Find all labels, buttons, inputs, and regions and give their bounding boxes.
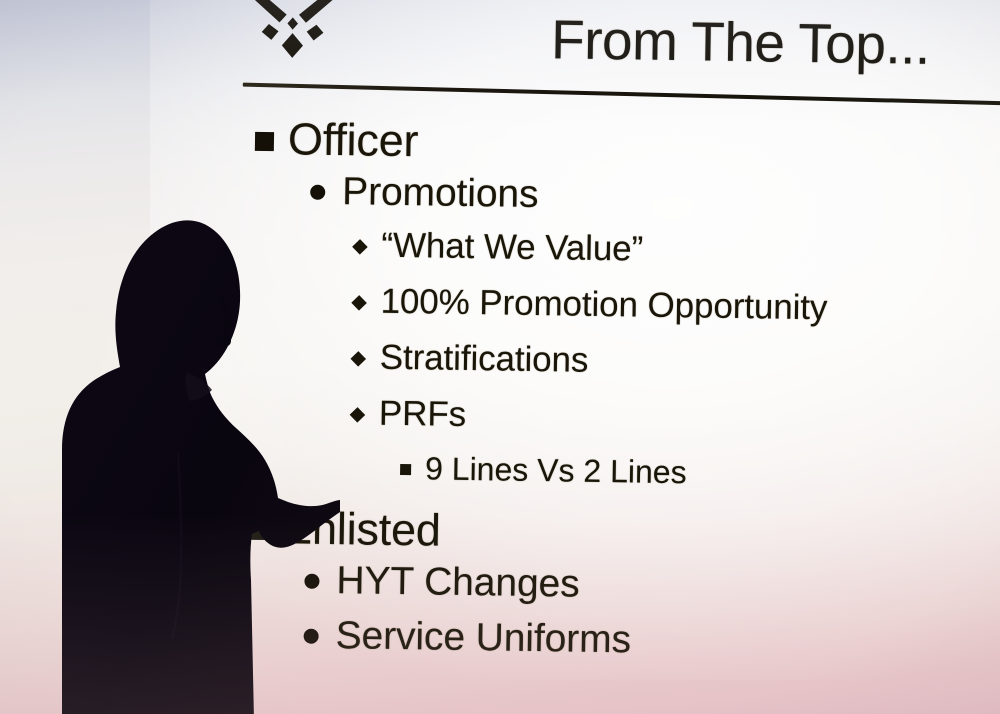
diamond-bullet-icon — [351, 295, 367, 311]
slide-bullet-list: Officer Promotions “What We Value” 100% … — [0, 109, 999, 679]
bullet-label: “What We Value” — [381, 226, 643, 270]
bullet-label: 100% Promotion Opportunity — [380, 282, 827, 329]
slide-title: From The Top... — [470, 6, 1000, 78]
bullet-label: PRFs — [379, 394, 467, 435]
circle-bullet-icon — [304, 629, 319, 644]
bullet-label: Officer — [288, 113, 419, 167]
bullet-item-service-uniforms: Service Uniforms — [303, 614, 992, 679]
diamond-bullet-icon — [352, 239, 368, 255]
circle-bullet-icon — [304, 574, 319, 589]
bullet-label: 9 Lines Vs 2 Lines — [425, 450, 687, 491]
small-square-bullet-icon — [400, 464, 411, 475]
bullet-item-what-we-value: “What We Value” — [354, 225, 998, 291]
bullet-item-promotions: Promotions — [310, 170, 999, 235]
diamond-bullet-icon — [350, 351, 366, 367]
presentation-photo: From The Top... Officer Promotions “What… — [0, 0, 1000, 714]
bullet-label: Stratifications — [379, 338, 588, 381]
bullet-label: Enlisted — [282, 502, 441, 556]
title-divider-rule — [243, 83, 1000, 106]
square-bullet-icon — [249, 521, 268, 540]
bullet-label: HYT Changes — [336, 559, 580, 607]
bullet-item-stratifications: Stratifications — [352, 337, 996, 403]
bullet-item-9-lines-vs-2-lines: 9 Lines Vs 2 Lines — [400, 450, 995, 513]
bullet-item-hyt-changes: HYT Changes — [304, 559, 993, 624]
diamond-bullet-icon — [350, 407, 366, 423]
circle-bullet-icon — [310, 185, 325, 200]
bullet-item-promotion-opportunity: 100% Promotion Opportunity — [353, 281, 997, 347]
bullet-item-prfs: PRFs — [351, 393, 995, 459]
presentation-slide: From The Top... Officer Promotions “What… — [0, 0, 1000, 714]
square-bullet-icon — [255, 132, 274, 151]
us-air-force-symbol-icon — [238, 0, 347, 62]
bullet-label: Service Uniforms — [335, 614, 631, 662]
bullet-label: Promotions — [342, 170, 539, 217]
